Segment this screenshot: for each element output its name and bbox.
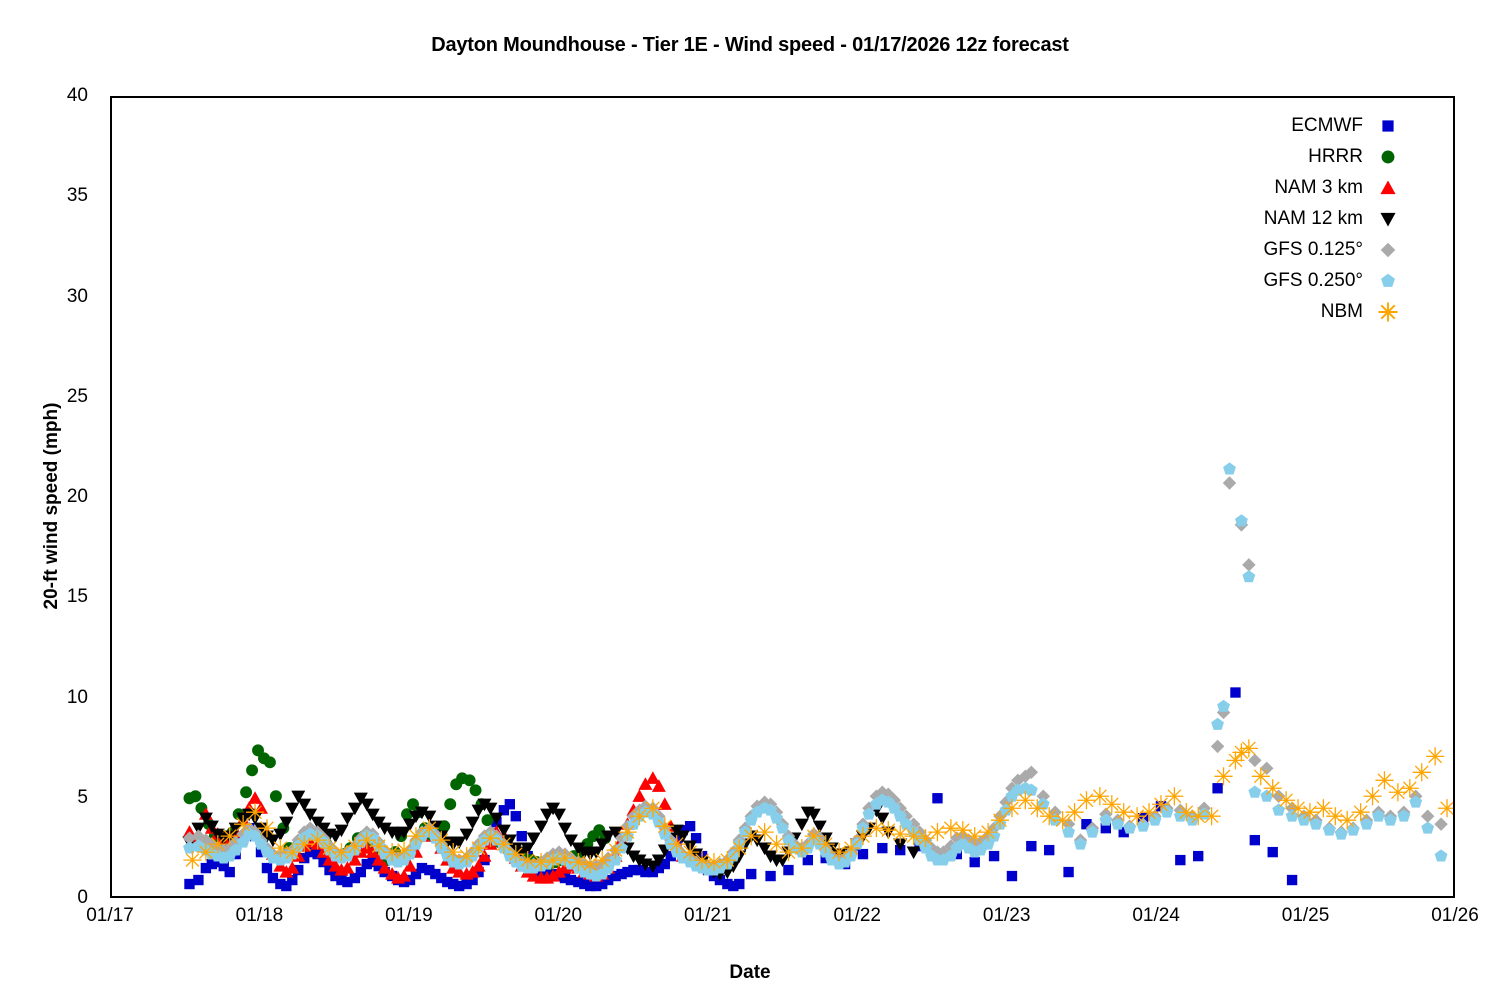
data-point bbox=[1401, 779, 1419, 797]
legend-nbm[interactable]: NBM bbox=[1160, 296, 1405, 327]
data-point bbox=[532, 853, 550, 871]
triangle-down-marker-icon bbox=[1371, 208, 1405, 230]
circle-marker-icon bbox=[1371, 146, 1405, 168]
data-point bbox=[309, 831, 327, 849]
data-point bbox=[1165, 787, 1183, 805]
data-point bbox=[517, 831, 527, 841]
data-point bbox=[1062, 825, 1075, 837]
data-point bbox=[1223, 476, 1236, 489]
data-point bbox=[875, 813, 889, 826]
data-point bbox=[989, 851, 999, 861]
data-point bbox=[867, 819, 885, 837]
data-point bbox=[1287, 875, 1297, 885]
data-point bbox=[1363, 787, 1381, 805]
data-point bbox=[1026, 841, 1036, 851]
x-tick-label-0: 01/17 bbox=[50, 905, 170, 927]
square-marker-icon bbox=[1371, 115, 1405, 137]
data-point bbox=[340, 813, 354, 826]
legend-hrrr[interactable]: HRRR bbox=[1160, 141, 1405, 172]
data-point bbox=[830, 843, 848, 861]
y-tick-label-10: 10 bbox=[28, 687, 88, 709]
data-point bbox=[644, 799, 662, 817]
data-point bbox=[928, 823, 946, 841]
data-point bbox=[283, 843, 301, 861]
legend-label: NAM 3 km bbox=[1274, 177, 1363, 199]
data-point bbox=[1175, 855, 1185, 865]
data-point bbox=[1260, 790, 1273, 802]
data-point bbox=[1352, 803, 1370, 821]
data-point bbox=[246, 803, 264, 821]
data-point bbox=[1177, 803, 1195, 821]
data-point bbox=[1375, 771, 1393, 789]
data-point bbox=[817, 835, 835, 853]
chart-legend: ECMWFHRRRNAM 3 kmNAM 12 kmGFS 0.125°GFS … bbox=[1160, 110, 1405, 327]
y-tick-label-40: 40 bbox=[28, 85, 88, 107]
data-point bbox=[1248, 754, 1261, 767]
x-tick-label-3: 01/20 bbox=[498, 905, 618, 927]
data-point bbox=[1103, 795, 1121, 813]
data-point bbox=[264, 756, 276, 768]
data-point bbox=[668, 835, 686, 853]
data-point bbox=[905, 827, 923, 845]
data-point bbox=[1140, 803, 1158, 821]
data-point bbox=[891, 825, 909, 843]
x-tick-label-5: 01/22 bbox=[797, 905, 917, 927]
legend-nam12km[interactable]: NAM 12 km bbox=[1160, 203, 1405, 234]
legend-gfs0125[interactable]: GFS 0.125° bbox=[1160, 234, 1405, 265]
data-point bbox=[320, 839, 338, 857]
data-point bbox=[1434, 817, 1447, 830]
data-point bbox=[1264, 779, 1282, 797]
data-point bbox=[581, 855, 599, 873]
data-point bbox=[183, 851, 201, 869]
data-point bbox=[858, 849, 868, 859]
data-point bbox=[1314, 799, 1332, 817]
data-point bbox=[444, 843, 462, 861]
data-point bbox=[1235, 514, 1248, 526]
data-point bbox=[942, 819, 960, 837]
data-point bbox=[1214, 767, 1232, 785]
data-point bbox=[519, 851, 537, 869]
data-point bbox=[1123, 821, 1136, 833]
x-tick-label-6: 01/23 bbox=[947, 905, 1067, 927]
data-point bbox=[1438, 799, 1453, 817]
data-point bbox=[693, 851, 711, 869]
data-point bbox=[1040, 807, 1058, 825]
data-point bbox=[556, 849, 574, 867]
data-point bbox=[1250, 835, 1260, 845]
asterisk-marker-icon bbox=[1371, 301, 1405, 323]
data-point bbox=[1044, 845, 1054, 855]
data-point bbox=[746, 869, 756, 879]
data-point bbox=[632, 789, 646, 802]
data-point bbox=[618, 823, 636, 841]
y-tick-label-25: 25 bbox=[28, 386, 88, 408]
data-point bbox=[258, 819, 276, 837]
data-point bbox=[395, 841, 413, 859]
chart-title: Dayton Moundhouse - Tier 1E - Wind speed… bbox=[0, 34, 1500, 57]
data-point bbox=[458, 847, 476, 865]
data-point bbox=[1268, 847, 1278, 857]
data-point bbox=[193, 875, 203, 885]
data-point bbox=[1272, 790, 1285, 803]
data-point bbox=[444, 798, 456, 810]
data-point bbox=[966, 827, 984, 845]
data-point bbox=[854, 827, 872, 845]
y-tick-label-20: 20 bbox=[28, 486, 88, 508]
data-point bbox=[767, 835, 785, 853]
data-point bbox=[1248, 786, 1261, 798]
data-point bbox=[907, 847, 921, 860]
legend-gfs0250[interactable]: GFS 0.250° bbox=[1160, 265, 1405, 296]
data-point bbox=[534, 821, 548, 834]
data-point bbox=[1435, 849, 1448, 861]
legend-label: HRRR bbox=[1308, 146, 1363, 168]
data-point bbox=[1242, 570, 1255, 582]
data-point bbox=[1211, 718, 1224, 730]
data-point bbox=[1301, 803, 1319, 821]
data-point bbox=[1152, 795, 1170, 813]
data-point bbox=[1232, 743, 1250, 761]
data-point bbox=[552, 809, 566, 822]
data-point bbox=[209, 835, 227, 853]
data-point bbox=[495, 835, 513, 853]
y-tick-label-30: 30 bbox=[28, 286, 88, 308]
data-point bbox=[1007, 871, 1017, 881]
data-point bbox=[1063, 867, 1073, 877]
data-point bbox=[877, 843, 887, 853]
legend-label: NBM bbox=[1321, 301, 1363, 323]
legend-nam3km[interactable]: NAM 3 km bbox=[1160, 172, 1405, 203]
data-point bbox=[1240, 739, 1258, 757]
data-point bbox=[511, 811, 521, 821]
data-point bbox=[685, 821, 695, 831]
data-point bbox=[879, 821, 897, 839]
data-point bbox=[734, 879, 744, 889]
data-point bbox=[1335, 827, 1348, 839]
data-point bbox=[1326, 807, 1344, 825]
data-point bbox=[464, 774, 476, 786]
data-point bbox=[470, 784, 482, 796]
legend-label: GFS 0.125° bbox=[1264, 239, 1363, 261]
x-axis-title: Date bbox=[0, 962, 1500, 984]
data-point bbox=[656, 817, 674, 835]
chart-page: Dayton Moundhouse - Tier 1E - Wind speed… bbox=[0, 0, 1500, 1000]
pentagon-marker-icon bbox=[1371, 270, 1405, 292]
data-point bbox=[607, 841, 625, 859]
data-point bbox=[558, 823, 572, 836]
data-point bbox=[544, 851, 562, 869]
x-tick-label-2: 01/19 bbox=[349, 905, 469, 927]
data-point bbox=[1193, 851, 1203, 861]
data-point bbox=[1260, 762, 1273, 775]
legend-label: NAM 12 km bbox=[1264, 208, 1363, 230]
data-point bbox=[225, 867, 235, 877]
y-tick-label-35: 35 bbox=[28, 185, 88, 207]
data-point bbox=[630, 807, 648, 825]
data-point bbox=[240, 786, 252, 798]
data-point bbox=[795, 819, 809, 832]
data-point bbox=[505, 799, 515, 809]
data-point bbox=[1289, 799, 1307, 817]
data-point bbox=[1272, 803, 1285, 815]
data-point bbox=[1323, 823, 1336, 835]
legend-label: ECMWF bbox=[1291, 115, 1363, 137]
y-tick-label-5: 5 bbox=[28, 787, 88, 809]
data-point bbox=[271, 839, 289, 857]
data-point bbox=[270, 790, 282, 802]
data-point bbox=[262, 863, 272, 873]
triangle-up-marker-icon bbox=[1371, 177, 1405, 199]
data-point bbox=[1277, 791, 1295, 809]
data-point bbox=[383, 843, 401, 861]
data-point bbox=[1413, 763, 1431, 781]
data-point bbox=[197, 843, 215, 861]
data-point bbox=[705, 853, 723, 871]
data-point bbox=[970, 857, 980, 867]
legend-label: GFS 0.250° bbox=[1264, 270, 1363, 292]
data-point bbox=[1016, 791, 1034, 809]
data-point bbox=[246, 764, 258, 776]
x-tick-label-1: 01/18 bbox=[199, 905, 319, 927]
data-point bbox=[779, 843, 797, 861]
data-point bbox=[783, 865, 793, 875]
data-point bbox=[1077, 791, 1095, 809]
data-point bbox=[1242, 558, 1255, 571]
data-point bbox=[285, 803, 299, 816]
data-point bbox=[681, 843, 699, 861]
data-point bbox=[569, 853, 587, 871]
x-tick-label-4: 01/21 bbox=[648, 905, 768, 927]
data-point bbox=[805, 827, 823, 845]
diamond-marker-icon bbox=[1371, 239, 1405, 261]
data-point bbox=[765, 871, 775, 881]
x-tick-label-9: 01/26 bbox=[1395, 905, 1500, 927]
data-point bbox=[469, 839, 487, 857]
data-point bbox=[1054, 811, 1072, 829]
data-point bbox=[742, 827, 760, 845]
data-point bbox=[1115, 803, 1133, 821]
data-point bbox=[1203, 807, 1221, 825]
data-point bbox=[1421, 821, 1434, 833]
y-tick-label-15: 15 bbox=[28, 586, 88, 608]
data-point bbox=[593, 851, 611, 869]
data-point bbox=[189, 790, 201, 802]
x-tick-label-8: 01/25 bbox=[1246, 905, 1366, 927]
data-point bbox=[1091, 787, 1109, 805]
x-tick-label-7: 01/24 bbox=[1096, 905, 1216, 927]
data-point bbox=[407, 827, 425, 845]
data-point bbox=[184, 879, 194, 889]
data-point bbox=[1211, 740, 1224, 753]
data-point bbox=[1389, 783, 1407, 801]
data-point bbox=[1421, 809, 1434, 822]
data-point bbox=[295, 835, 313, 853]
data-point bbox=[1426, 747, 1444, 765]
data-point bbox=[932, 793, 942, 803]
data-point bbox=[1230, 687, 1240, 697]
data-point bbox=[466, 817, 480, 830]
data-point bbox=[1128, 807, 1146, 825]
data-point bbox=[1338, 811, 1356, 829]
data-point bbox=[1286, 809, 1299, 821]
data-point bbox=[1217, 700, 1230, 712]
data-point bbox=[1003, 799, 1021, 817]
legend-ecmwf[interactable]: ECMWF bbox=[1160, 110, 1405, 141]
data-point bbox=[1028, 799, 1046, 817]
data-point bbox=[1223, 462, 1236, 474]
data-point bbox=[221, 827, 239, 845]
data-point bbox=[1212, 783, 1222, 793]
